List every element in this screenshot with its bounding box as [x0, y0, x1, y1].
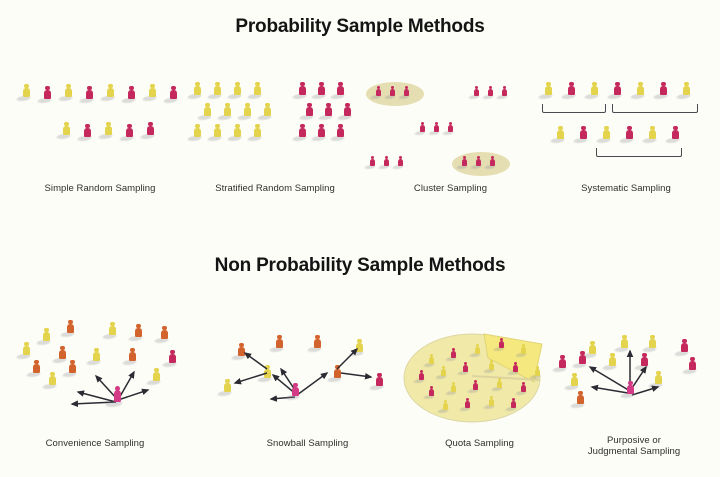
person-figure-icon	[487, 86, 494, 99]
person-figure-icon	[489, 156, 496, 169]
person-figure-icon	[473, 86, 480, 99]
convenience-sampling-illustration	[0, 310, 190, 432]
person-figure-icon	[324, 103, 333, 120]
person-figure-icon	[336, 124, 345, 141]
person-figure-icon	[127, 86, 136, 103]
person-figure-icon	[104, 122, 113, 139]
person-figure-icon	[193, 82, 202, 99]
person-figure-icon	[534, 366, 541, 379]
simple-random-illustration	[10, 78, 190, 168]
person-figure-icon	[112, 386, 123, 407]
label-purposive-sampling-line1: Purposive or	[548, 435, 720, 447]
panel-systematic-sampling: Systematic Sampling	[536, 78, 716, 198]
label-simple-random-sampling: Simple Random Sampling	[10, 183, 190, 195]
person-figure-icon	[106, 84, 115, 101]
person-figure-icon	[428, 354, 435, 367]
person-figure-icon	[193, 124, 202, 141]
person-figure-icon	[397, 156, 404, 169]
panel-simple-random-sampling: Simple Random Sampling	[10, 78, 190, 198]
person-figure-icon	[520, 382, 527, 395]
panel-snowball-sampling: Snowball Sampling	[215, 325, 400, 465]
person-figure-icon	[419, 122, 426, 135]
person-figure-icon	[544, 82, 553, 99]
section-title-probability: Probability Sample Methods	[0, 16, 720, 38]
person-figure-icon	[496, 378, 503, 391]
person-figure-icon	[169, 86, 178, 103]
person-figure-icon	[298, 124, 307, 141]
panel-convenience-sampling: Convenience Sampling	[0, 310, 190, 460]
person-figure-icon	[556, 126, 565, 143]
person-figure-icon	[389, 86, 396, 99]
label-quota-sampling: Quota Sampling	[392, 438, 567, 450]
person-figure-icon	[213, 82, 222, 99]
person-figure-icon	[223, 103, 232, 120]
person-figure-icon	[447, 122, 454, 135]
person-figure-icon	[625, 126, 634, 143]
person-figure-icon	[64, 84, 73, 101]
person-figure-icon	[298, 82, 307, 99]
person-figure-icon	[475, 156, 482, 169]
person-figure-icon	[317, 124, 326, 141]
person-figure-icon	[369, 156, 376, 169]
person-figure-icon	[659, 82, 668, 99]
person-figure-icon	[450, 348, 457, 361]
person-figure-icon	[263, 103, 272, 120]
person-figure-icon	[233, 124, 242, 141]
person-figure-icon	[43, 86, 52, 103]
person-figure-icon	[343, 103, 352, 120]
purposive-arrows	[548, 325, 720, 430]
person-figure-icon	[383, 156, 390, 169]
person-figure-icon	[579, 126, 588, 143]
person-figure-icon	[498, 338, 505, 351]
person-figure-icon	[450, 382, 457, 395]
person-figure-icon	[512, 362, 519, 375]
person-figure-icon	[305, 103, 314, 120]
person-figure-icon	[428, 386, 435, 399]
person-figure-icon	[682, 82, 691, 99]
interval-bracket	[612, 104, 698, 113]
person-figure-icon	[590, 82, 599, 99]
person-figure-icon	[636, 82, 645, 99]
person-figure-icon	[501, 86, 508, 99]
person-figure-icon	[83, 124, 92, 141]
person-figure-icon	[336, 82, 345, 99]
label-snowball-sampling: Snowball Sampling	[215, 438, 400, 450]
person-figure-icon	[671, 126, 680, 143]
person-figure-icon	[148, 84, 157, 101]
interval-bracket	[542, 104, 606, 113]
person-figure-icon	[253, 124, 262, 141]
person-figure-icon	[243, 103, 252, 120]
person-figure-icon	[488, 360, 495, 373]
cluster-sampling-illustration	[363, 72, 538, 172]
person-figure-icon	[213, 124, 222, 141]
person-figure-icon	[462, 362, 469, 375]
person-figure-icon	[253, 82, 262, 99]
person-figure-icon	[613, 82, 622, 99]
person-figure-icon	[62, 122, 71, 139]
person-figure-icon	[418, 370, 425, 383]
person-figure-icon	[464, 398, 471, 411]
person-figure-icon	[472, 380, 479, 393]
person-figure-icon	[602, 126, 611, 143]
person-figure-icon	[203, 103, 212, 120]
person-figure-icon	[291, 383, 300, 400]
person-figure-icon	[233, 82, 242, 99]
person-figure-icon	[567, 82, 576, 99]
label-systematic-sampling: Systematic Sampling	[536, 183, 716, 195]
label-purposive-sampling-line2: Judgmental Sampling	[548, 446, 720, 458]
person-figure-icon	[520, 344, 527, 357]
person-figure-icon	[403, 86, 410, 99]
person-figure-icon	[648, 126, 657, 143]
person-figure-icon	[510, 398, 517, 411]
label-stratified-random-sampling: Stratified Random Sampling	[185, 183, 365, 195]
person-figure-icon	[442, 400, 449, 413]
person-figure-icon	[488, 396, 495, 409]
person-figure-icon	[461, 156, 468, 169]
snowball-arrows	[215, 325, 400, 433]
person-figure-icon	[85, 86, 94, 103]
stratified-random-illustration	[185, 78, 365, 168]
panel-purposive-sampling: Purposive or Judgmental Sampling	[548, 325, 720, 475]
interval-bracket	[596, 148, 682, 157]
person-figure-icon	[440, 366, 447, 379]
section-title-non-probability: Non Probability Sample Methods	[0, 255, 720, 277]
convenience-arrows	[0, 310, 190, 432]
systematic-sampling-illustration	[536, 78, 716, 173]
person-figure-icon	[125, 124, 134, 141]
person-figure-icon	[375, 86, 382, 99]
person-figure-icon	[22, 84, 31, 101]
infographic-canvas: Probability Sample Methods Simple Random…	[0, 0, 720, 477]
purposive-sampling-illustration	[548, 325, 720, 430]
person-figure-icon	[317, 82, 326, 99]
panel-stratified-random-sampling: Stratified Random Sampling	[185, 78, 365, 198]
label-convenience-sampling: Convenience Sampling	[0, 438, 190, 450]
person-figure-icon	[474, 344, 481, 357]
quota-sampling-illustration	[392, 310, 567, 435]
label-cluster-sampling: Cluster Sampling	[363, 183, 538, 195]
person-figure-icon	[626, 381, 635, 398]
panel-quota-sampling: Quota Sampling	[392, 310, 567, 465]
panel-cluster-sampling: Cluster Sampling	[363, 72, 538, 198]
snowball-sampling-illustration	[215, 325, 400, 433]
person-figure-icon	[146, 122, 155, 139]
person-figure-icon	[433, 122, 440, 135]
